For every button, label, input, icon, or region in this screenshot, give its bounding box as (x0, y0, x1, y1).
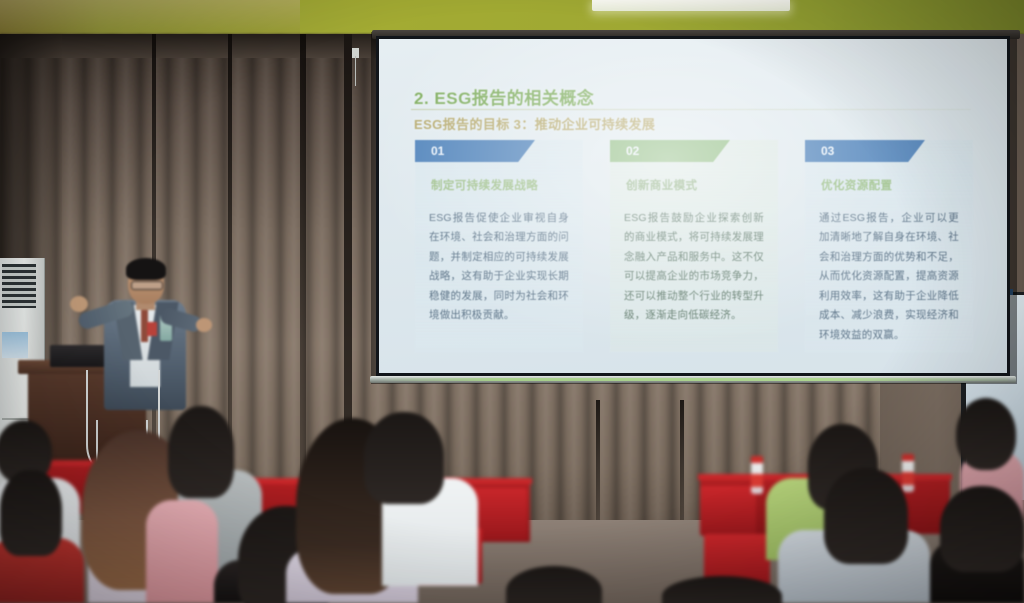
curtain-fold (596, 400, 600, 534)
column-number-badge: 03 (805, 140, 925, 162)
bottle-cap (751, 456, 763, 463)
slide-column-02: 02 创新商业模式 ESG报告鼓励企业探索创新的商业模式，将可持续发展理念融入产… (610, 140, 778, 352)
audience-member-head (0, 470, 62, 556)
presenter-hand-right (196, 318, 212, 332)
column-heading: 优化资源配置 (821, 177, 973, 193)
slide-columns: 01 制定可持续发展战略 ESG报告促使企业审视自身在环境、社会和治理方面的问题… (415, 140, 975, 352)
column-number-badge: 02 (610, 140, 730, 162)
column-number-badge: 01 (415, 140, 535, 162)
slide-title-divider (411, 109, 971, 110)
screen-pull-cord (355, 56, 356, 86)
presenter-hair (126, 258, 166, 280)
column-body-text: ESG报告鼓励企业探索创新的商业模式，将可持续发展理念融入产品和服务中。这不仅可… (624, 209, 764, 326)
column-body-text: 通过ESG报告，企业可以更加清晰地了解自身在环境、社会和治理方面的优势和不足，从… (819, 209, 959, 345)
presenter-glasses-icon (131, 281, 163, 290)
column-heading: 制定可持续发展战略 (431, 177, 583, 193)
presentation-slide: 2. ESG报告的相关概念 ESG报告的目标 3：推动企业可持续发展 01 制定… (391, 52, 995, 358)
slide-column-03: 03 优化资源配置 通过ESG报告，企业可以更加清晰地了解自身在环境、社会和治理… (805, 140, 973, 352)
ceiling-shading (0, 0, 300, 34)
ceiling-light-panel (592, 0, 790, 11)
air-conditioner-vents-icon (2, 264, 36, 308)
audience-member-head (956, 398, 1016, 470)
slide-column-01: 01 制定可持续发展战略 ESG报告促使企业审视自身在环境、社会和治理方面的问题… (415, 140, 583, 352)
presenter-badge (147, 322, 157, 336)
bottle-label (751, 474, 763, 487)
seat-back (700, 486, 756, 536)
audience-member-head (940, 486, 1024, 572)
column-heading: 创新商业模式 (626, 177, 778, 193)
bottle-label (902, 472, 914, 485)
curtain-fold (680, 400, 684, 534)
audience-member-head (168, 406, 234, 498)
slide-subtitle: ESG报告的目标 3：推动企业可持续发展 (414, 114, 655, 133)
column-body-text: ESG报告促使企业审视自身在环境、社会和治理方面的问题，并制定相应的可持续发展战… (429, 209, 569, 326)
audience-member-head (364, 412, 444, 504)
audience-member-torso (146, 500, 218, 603)
slide-title: 2. ESG报告的相关概念 (414, 84, 594, 109)
audience-member-head (824, 468, 908, 564)
bottle-cap (902, 454, 914, 461)
presenter-hand-left (70, 296, 88, 312)
lecture-hall-photo: 2. ESG报告的相关概念 ESG报告的目标 3：推动企业可持续发展 01 制定… (0, 0, 1024, 603)
screen-bar-reflection (378, 378, 1008, 381)
air-conditioner-label (2, 332, 28, 358)
